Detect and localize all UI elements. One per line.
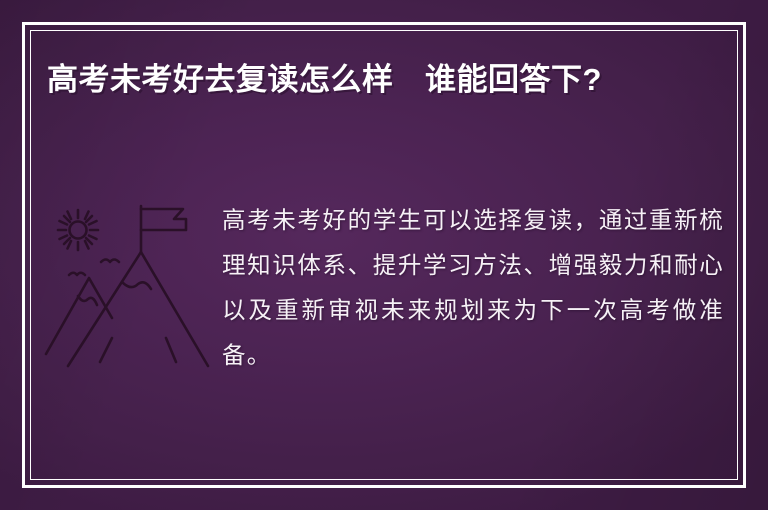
poster-canvas: 高考未考好去复读怎么样 谁能回答下? — [0, 0, 768, 510]
sun-icon — [58, 210, 98, 250]
slope-mark — [100, 338, 112, 362]
bird-icon — [101, 260, 119, 263]
illustration-svg — [40, 200, 220, 400]
slope-mark — [166, 338, 176, 362]
flag-icon — [141, 206, 186, 252]
mountain-with-flag-illustration — [40, 196, 222, 400]
snow-cap-line — [78, 296, 97, 305]
poster-body-text: 高考未考好的学生可以选择复读，通过重新梳理知识体系、提升学习方法、增强毅力和耐心… — [222, 196, 724, 378]
poster-body-area: 高考未考好的学生可以选择复读，通过重新梳理知识体系、提升学习方法、增强毅力和耐心… — [40, 196, 724, 400]
small-mountain-icon — [46, 278, 112, 354]
large-mountain-icon — [68, 252, 208, 366]
poster-headline: 高考未考好去复读怎么样 谁能回答下? — [47, 57, 687, 102]
snow-cap-line — [122, 282, 151, 289]
bird-icon — [69, 273, 85, 275]
poster-content: 高考未考好去复读怎么样 谁能回答下? — [0, 0, 768, 510]
